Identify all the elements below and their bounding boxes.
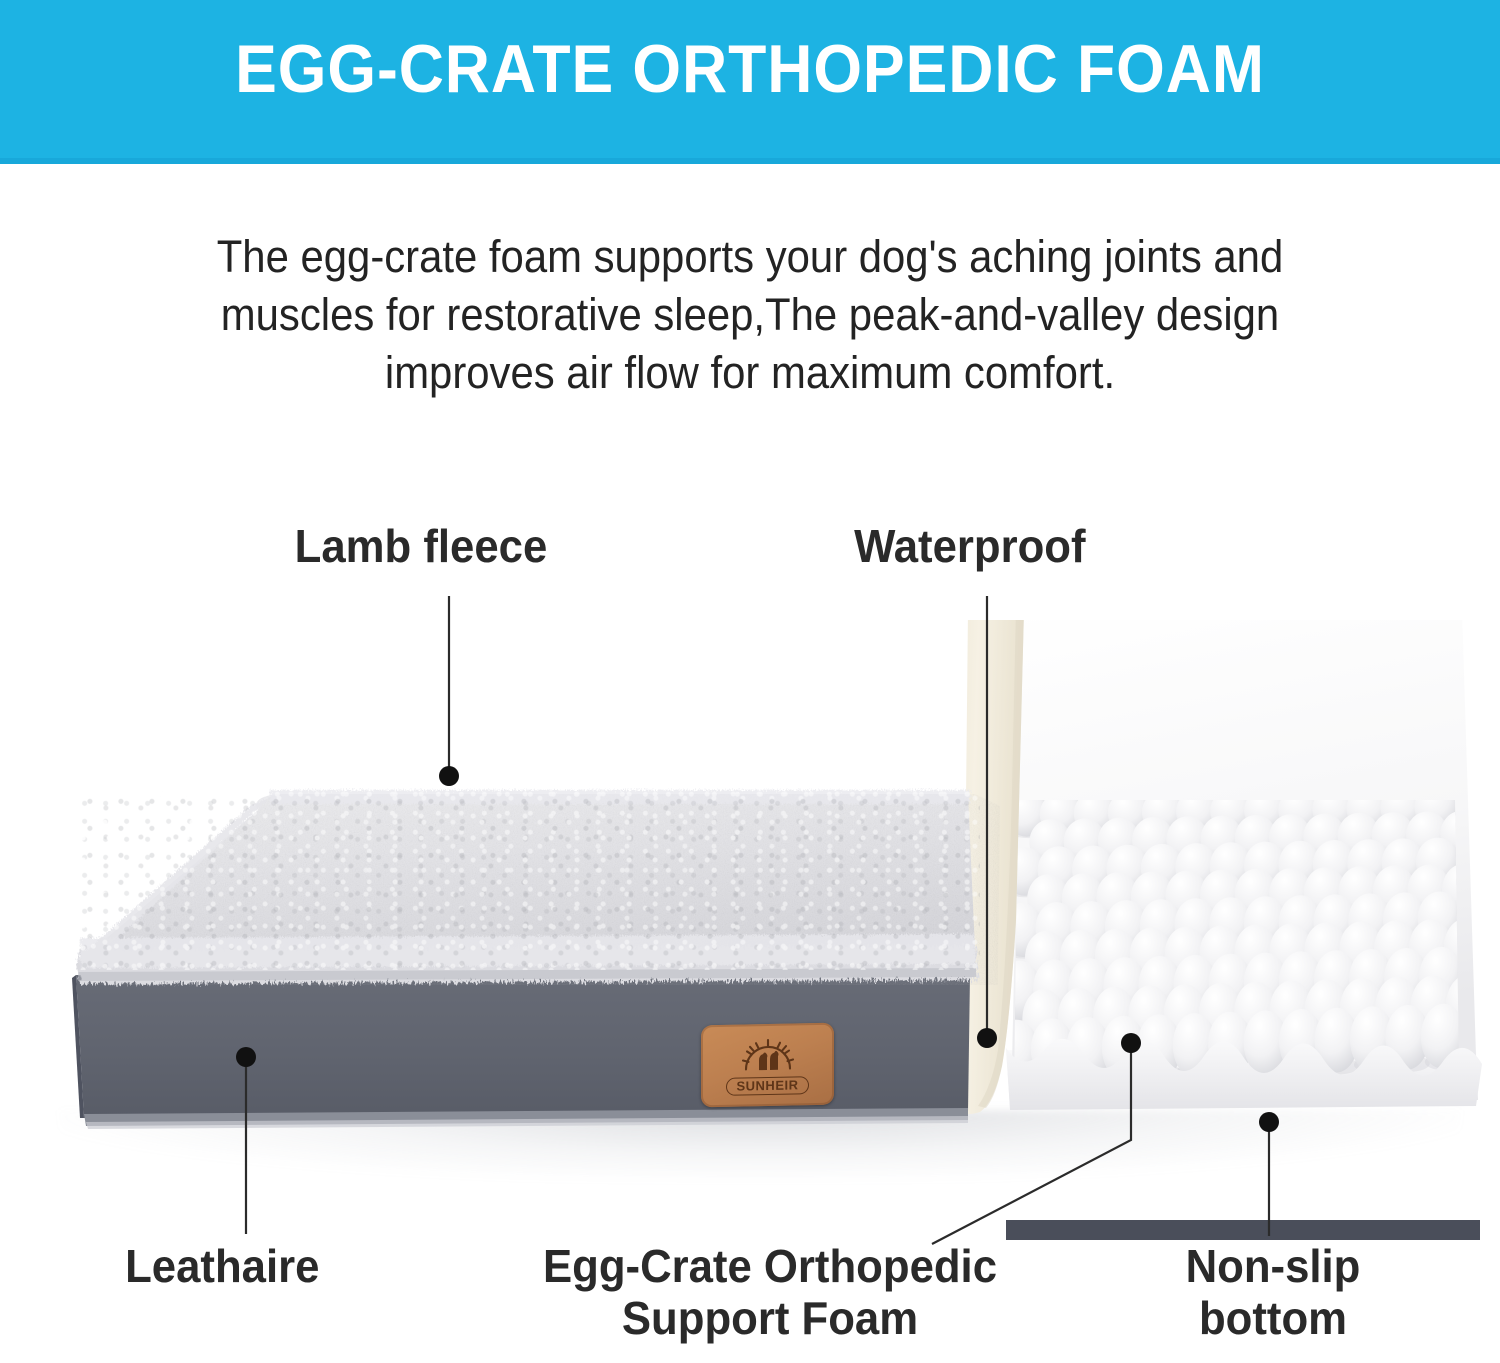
callout-label-non-slip: Non-slip bottom — [1154, 1240, 1392, 1344]
description-text: The egg-crate foam supports your dog's a… — [192, 228, 1308, 402]
header-banner: EGG-CRATE ORTHOPEDIC FOAM — [0, 0, 1500, 164]
callout-label-lamb-fleece: Lamb fleece — [295, 520, 548, 572]
dog-bed-illustration — [0, 620, 1500, 1240]
egg-crate-foam-layer — [994, 620, 1491, 1110]
non-slip-bottom-layer — [1006, 1220, 1480, 1240]
brand-logo-patch: SUNHEIR — [701, 1023, 834, 1108]
callout-label-waterproof: Waterproof — [854, 520, 1085, 572]
callout-label-leathaire: Leathaire — [125, 1240, 319, 1292]
callout-label-egg-crate: Egg-Crate Orthopedic Support Foam — [485, 1240, 1055, 1344]
fleece-and-leathaire-layer — [60, 785, 1000, 1129]
brand-name: SUNHEIR — [726, 1076, 808, 1096]
sun-dog-logo-icon — [737, 1035, 799, 1076]
page-title: EGG-CRATE ORTHOPEDIC FOAM — [60, 34, 1440, 105]
